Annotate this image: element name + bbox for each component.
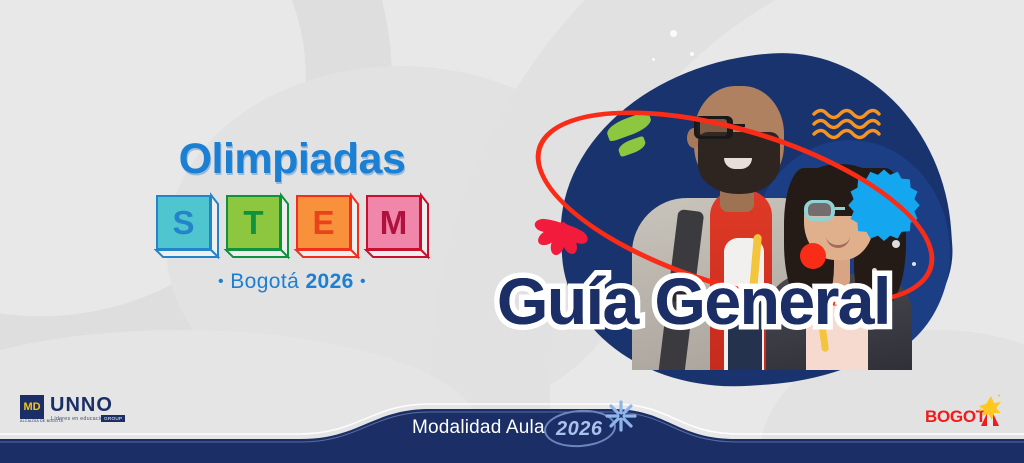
sparkle-icon <box>604 399 638 433</box>
poster-canvas: Olimpiadas S T <box>0 0 1024 463</box>
unno-mark-text: MD <box>23 402 40 413</box>
year-label: 2026 <box>305 270 353 293</box>
unno-wordmark: UNNO <box>50 394 113 416</box>
sparkle-3 <box>652 58 655 61</box>
bogota-year-line: • Bogotá 2026 • <box>137 270 447 294</box>
hero-composition <box>500 0 1024 420</box>
stem-block-e: E <box>296 195 358 257</box>
unno-mark-icon: MD <box>20 395 44 419</box>
city-label: Bogotá <box>230 270 299 293</box>
hero-title: Guía General <box>497 262 967 340</box>
olimpiadas-heading: Olimpiadas <box>137 138 447 181</box>
star-icon <box>977 394 1003 420</box>
block-e-face: E <box>296 195 351 250</box>
stem-block-t: T <box>226 195 288 257</box>
unno-tagline: Líderes en educación <box>51 416 107 422</box>
bogota-logo[interactable]: BOGOT <box>925 396 1005 428</box>
sparkle-2 <box>690 52 694 56</box>
sparkle-4 <box>892 240 900 248</box>
brand-lockup: Olimpiadas S T <box>137 138 447 294</box>
orange-zigzag-icon <box>812 108 890 144</box>
block-t-face: T <box>226 195 281 250</box>
bullet-right: • <box>360 273 366 290</box>
stem-block-m: M <box>366 195 428 257</box>
bullet-left: • <box>218 273 224 290</box>
bottom-bar-year: 2026 <box>556 418 603 441</box>
bottom-bar-label: Modalidad Aula <box>412 417 545 439</box>
stem-block-s: S <box>156 195 218 257</box>
stem-blocks: S T E M <box>137 195 447 257</box>
unno-chip: GROUP <box>101 415 125 422</box>
block-m-face: M <box>366 195 421 250</box>
unno-logo[interactable]: MD ALCALDÍA DE BOGOTÁ UNNO Líderes en ed… <box>20 394 130 424</box>
sparkle-1 <box>670 30 677 37</box>
block-s-face: S <box>156 195 211 250</box>
